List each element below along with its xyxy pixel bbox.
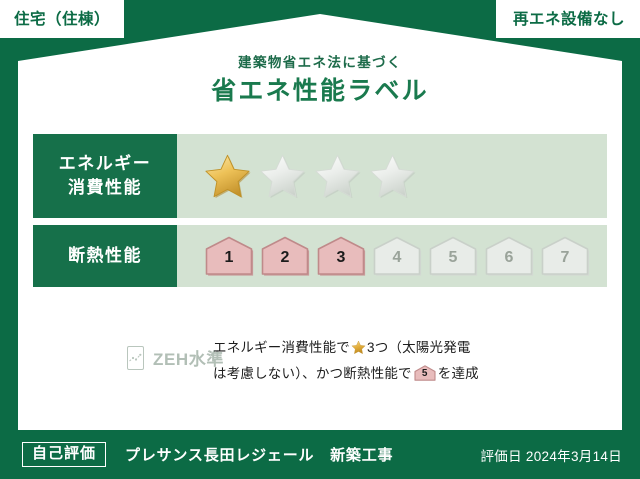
insulation-performance-value: 1234567 [177, 225, 607, 287]
star-icon [351, 343, 366, 358]
energy-performance-label: エネルギー 消費性能 [33, 134, 177, 218]
insulation-level-empty: 6 [483, 235, 535, 277]
zeh-standard-badge: ZEH水準 [33, 332, 213, 370]
achievement-description: エネルギー消費性能で3つ（太陽光発電 は考慮しない）、かつ断熱性能で5を達成 [213, 332, 607, 385]
insulation-level-value: 4 [371, 250, 423, 266]
insulation-level-value: 1 [203, 250, 255, 266]
insulation-level-value: 5 [427, 250, 479, 266]
footer-bar: 自己評価 プレサンス長田レジェール 新築工事 評価日 2024年3月14日 [0, 430, 640, 479]
description-line2-part1: は考慮しない）、かつ断熱性能で [213, 366, 412, 381]
insulation-level-inline-value: 5 [414, 369, 436, 379]
zeh-chart-icon [127, 346, 144, 370]
insulation-level-empty: 7 [539, 235, 591, 277]
insulation-level-value: 6 [483, 250, 535, 266]
energy-label-line1: エネルギー [59, 152, 152, 176]
description-line1-part2: 3つ（太陽光発電 [367, 340, 471, 355]
title-block: 建築物省エネ法に基づく 省エネ性能ラベル [0, 56, 640, 104]
energy-performance-row: エネルギー 消費性能 [33, 134, 607, 218]
energy-performance-label: 住宅（住棟） 再エネ設備なし 建築物省エネ法に基づく 省エネ性能ラベル エネルギ… [0, 0, 640, 479]
insulation-performance-label: 断熱性能 [33, 225, 177, 287]
evaluation-type-badge: 自己評価 [22, 442, 106, 468]
insulation-level-scale: 1234567 [203, 235, 591, 277]
insulation-level-achieved: 2 [259, 235, 311, 277]
insulation-level-value: 2 [259, 250, 311, 266]
insulation-level-value: 3 [315, 250, 367, 266]
zeh-and-description: ZEH水準 エネルギー消費性能で3つ（太陽光発電 は考慮しない）、かつ断熱性能で… [33, 332, 607, 385]
insulation-level-value: 7 [539, 250, 591, 266]
insulation-performance-row: 断熱性能 1234567 [33, 225, 607, 287]
insulation-level-empty: 5 [427, 235, 479, 277]
energy-label-line2: 消費性能 [68, 176, 142, 200]
description-line2-part2: を達成 [438, 366, 479, 381]
insulation-level-inline-badge: 5 [414, 365, 436, 381]
energy-performance-value [177, 134, 607, 218]
evaluation-date: 評価日 2024年3月14日 [480, 445, 622, 465]
performance-rows: エネルギー 消費性能 断熱性能 1234567 [33, 134, 607, 294]
star-icon-filled [203, 152, 252, 201]
title-subtitle: 建築物省エネ法に基づく [0, 56, 640, 70]
building-type-tag: 住宅（住棟） [0, 0, 124, 38]
page-title: 省エネ性能ラベル [0, 79, 640, 104]
insulation-label-line1: 断熱性能 [68, 244, 142, 268]
insulation-level-achieved: 1 [203, 235, 255, 277]
insulation-level-achieved: 3 [315, 235, 367, 277]
star-rating [203, 152, 417, 201]
star-icon-empty [368, 152, 417, 201]
insulation-level-empty: 4 [371, 235, 423, 277]
star-icon-empty [258, 152, 307, 201]
project-name: プレサンス長田レジェール 新築工事 [125, 444, 393, 465]
renewable-equipment-tag: 再エネ設備なし [496, 0, 640, 38]
description-line1-part1: エネルギー消費性能で [213, 340, 350, 355]
star-icon-empty [313, 152, 362, 201]
